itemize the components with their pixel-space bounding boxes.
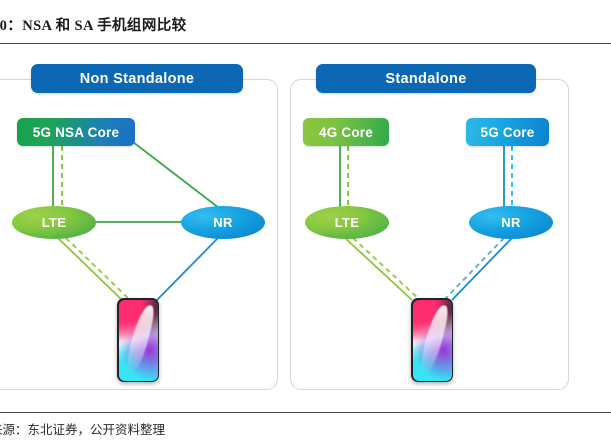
node-4g-core[interactable]: 4G Core — [303, 118, 389, 146]
phone-screen-nsa — [119, 300, 158, 381]
panel-header-non-standalone[interactable]: Non Standalone — [31, 64, 243, 93]
figure-source: 来源：东北证券，公开资料整理 — [0, 419, 165, 438]
node-5g-core[interactable]: 5G Core — [466, 118, 549, 146]
panel-header-standalone[interactable]: Standalone — [316, 64, 536, 93]
phone-screen-sa — [413, 300, 452, 381]
phone-wallpaper-swoosh — [417, 303, 450, 376]
node-nr-nsa[interactable]: NR — [181, 206, 265, 239]
node-5g-nsa-core[interactable]: 5G NSA Core — [17, 118, 135, 146]
node-lte-sa[interactable]: LTE — [305, 206, 389, 239]
figure-canvas: 20：NSA 和 SA 手机组网比较 — [0, 0, 611, 445]
phone-wallpaper-swoosh — [123, 303, 156, 376]
smartphone-icon-sa — [411, 298, 453, 382]
figure-title: 20：NSA 和 SA 手机组网比较 — [0, 14, 187, 35]
node-lte-nsa[interactable]: LTE — [12, 206, 96, 239]
bottom-rule — [0, 412, 611, 413]
top-rule — [0, 43, 611, 44]
smartphone-icon-nsa — [117, 298, 159, 382]
node-nr-sa[interactable]: NR — [469, 206, 553, 239]
